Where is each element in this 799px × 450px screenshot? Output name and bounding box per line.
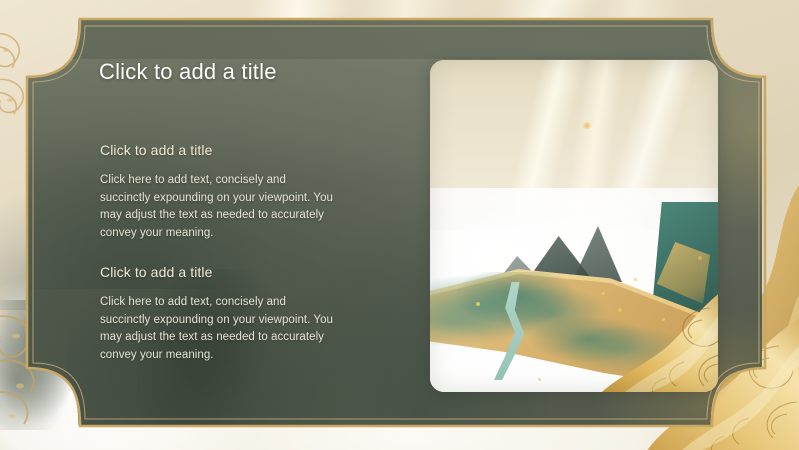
content-block-heading[interactable]: Click to add a title: [100, 141, 334, 159]
content-block-body[interactable]: Click here to add text, concisely and su…: [100, 294, 334, 364]
content-block-heading[interactable]: Click to add a title: [100, 263, 334, 281]
slide-image-placeholder[interactable]: [430, 60, 718, 392]
page-title[interactable]: Click to add a title: [99, 59, 277, 85]
content-block-1: Click to add a title Click here to add t…: [100, 141, 334, 242]
content-block-body[interactable]: Click here to add text, concisely and su…: [100, 172, 334, 242]
image-vignette: [430, 60, 718, 392]
content-block-2: Click to add a title Click here to add t…: [100, 263, 334, 364]
slide-canvas: Click to add a title Click to add a titl…: [0, 0, 799, 450]
